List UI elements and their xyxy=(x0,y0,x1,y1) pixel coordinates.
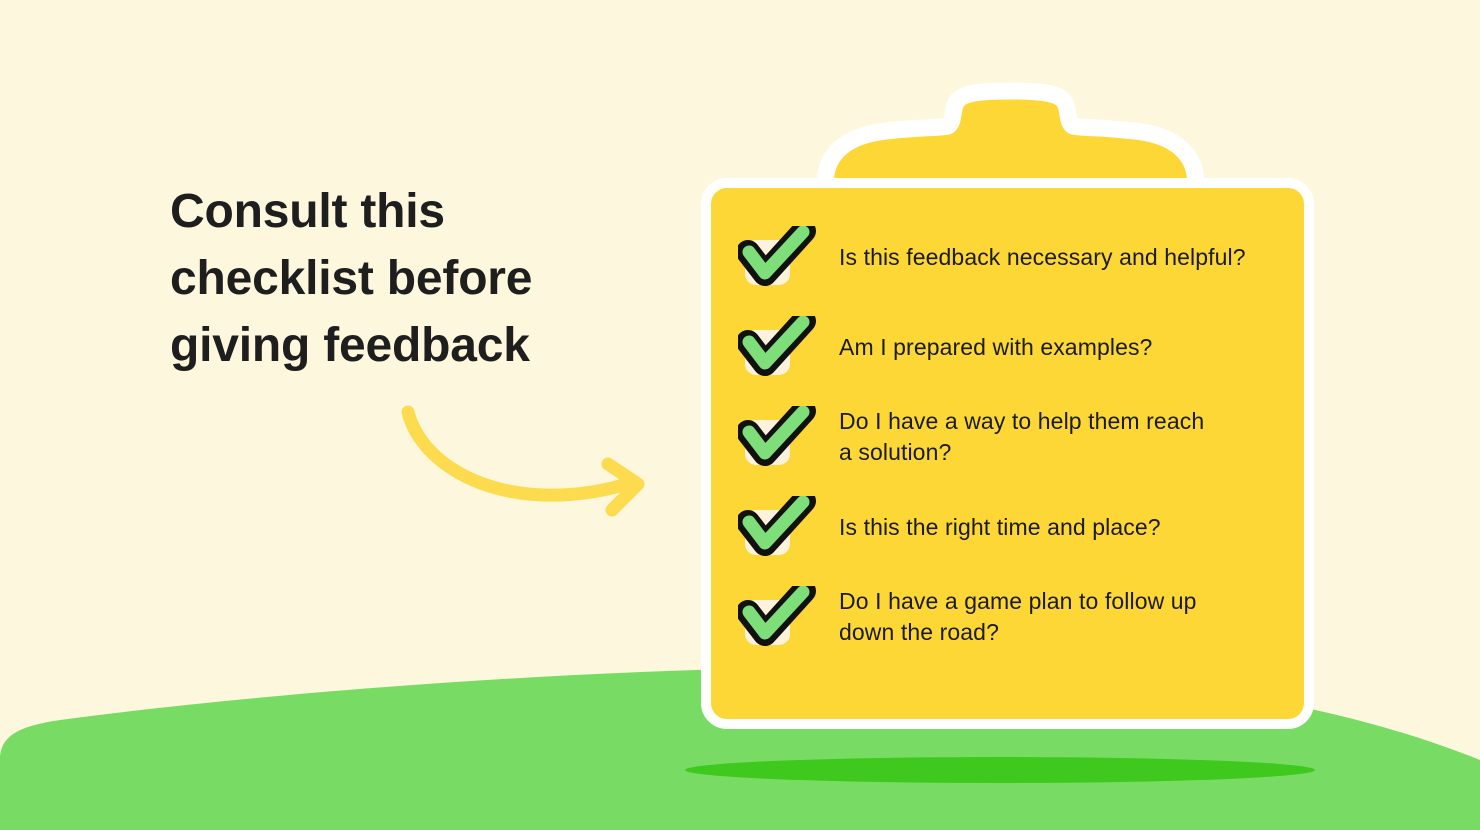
checkbox-4[interactable] xyxy=(738,586,800,648)
clipboard: Is this feedback necessary and helpful? … xyxy=(690,78,1330,758)
clip-shape xyxy=(825,91,1195,190)
green-checkmark-icon xyxy=(738,496,816,558)
arrow-curve xyxy=(408,412,633,495)
green-checkmark-icon xyxy=(738,316,816,378)
checkbox-0[interactable] xyxy=(738,226,800,288)
checkbox-1[interactable] xyxy=(738,316,800,378)
checklist-item[interactable]: Do I have a game plan to follow up down … xyxy=(738,586,1298,648)
checklist-item-label: Is this the right time and place? xyxy=(839,512,1161,543)
curved-arrow-icon xyxy=(390,398,660,518)
checkbox-2[interactable] xyxy=(738,406,800,468)
checklist-item[interactable]: Am I prepared with examples? xyxy=(738,316,1298,378)
clipboard-ground-shadow xyxy=(685,757,1315,783)
checklist: Is this feedback necessary and helpful? … xyxy=(738,226,1298,676)
checklist-item-label: Do I have a game plan to follow up down … xyxy=(839,586,1197,647)
checklist-item[interactable]: Do I have a way to help them reach a sol… xyxy=(738,406,1298,468)
green-checkmark-icon xyxy=(738,586,816,648)
green-checkmark-icon xyxy=(738,226,816,288)
checklist-item[interactable]: Is this feedback necessary and helpful? xyxy=(738,226,1298,288)
checkbox-3[interactable] xyxy=(738,496,800,558)
checklist-item-label: Is this feedback necessary and helpful? xyxy=(839,242,1246,273)
slide-canvas: Consult this checklist before giving fee… xyxy=(0,0,1480,830)
page-title: Consult this checklist before giving fee… xyxy=(170,178,610,380)
checklist-item-label: Do I have a way to help them reach a sol… xyxy=(839,406,1204,467)
green-checkmark-icon xyxy=(738,406,816,468)
checklist-item-label: Am I prepared with examples? xyxy=(839,332,1152,363)
checklist-item[interactable]: Is this the right time and place? xyxy=(738,496,1298,558)
